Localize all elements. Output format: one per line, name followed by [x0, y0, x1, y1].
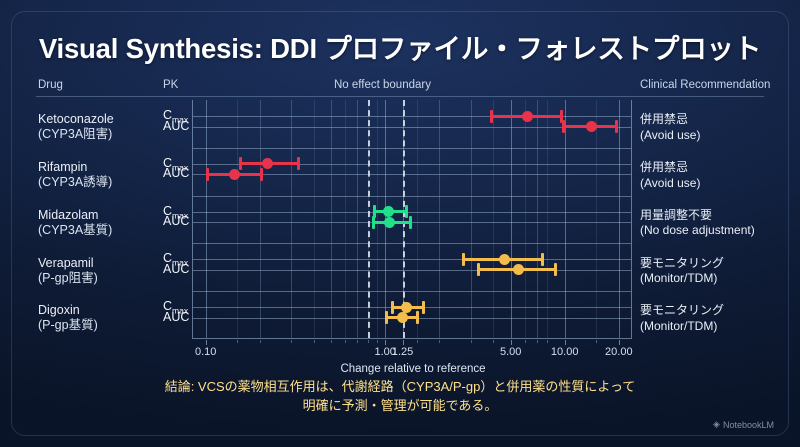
- drug-pathway: (P-gp基質): [38, 318, 98, 333]
- recommendation-en: (Avoid use): [640, 128, 700, 144]
- conclusion-text: 結論: VCSの薬物相互作用は、代謝経路（CYP3A/P-gp）と併用薬の性質に…: [0, 377, 800, 415]
- grid-line-vertical: [511, 100, 512, 338]
- confidence-interval-cap: [541, 253, 544, 266]
- confidence-interval-cap: [260, 168, 263, 181]
- x-axis-tick: [511, 340, 512, 345]
- x-axis-minor-tick: [439, 340, 440, 343]
- drug-name: Midazolam: [38, 208, 112, 223]
- confidence-interval-cap: [490, 110, 493, 123]
- drug-name: Rifampin: [38, 160, 112, 175]
- x-axis-tick: [565, 340, 566, 345]
- grid-line-vertical: [291, 100, 292, 338]
- confidence-interval-cap: [422, 301, 425, 314]
- grid-line-vertical-minor: [377, 100, 378, 338]
- x-axis-minor-tick: [417, 340, 418, 343]
- point-estimate-marker[interactable]: [397, 312, 408, 323]
- recommendation-en: (Monitor/TDM): [640, 319, 724, 335]
- confidence-interval-cap: [477, 263, 480, 276]
- notebooklm-watermark: ◈ NotebookLM: [713, 419, 774, 430]
- drug-pathway: (CYP3A誘導): [38, 175, 112, 190]
- grid-line-vertical: [439, 100, 440, 338]
- x-axis-minor-tick: [260, 340, 261, 343]
- confidence-interval-cap: [462, 253, 465, 266]
- x-axis-minor-tick: [377, 340, 378, 343]
- x-axis-minor-tick: [537, 340, 538, 343]
- x-axis-minor-tick: [237, 340, 238, 343]
- point-estimate-marker[interactable]: [401, 302, 412, 313]
- pk-label: AUC: [163, 214, 189, 228]
- grid-line-vertical-minor: [596, 100, 597, 338]
- x-axis-tick-label: 10.00: [551, 346, 579, 358]
- x-axis-tick-label: 1.25: [392, 346, 413, 358]
- x-axis-minor-tick: [291, 340, 292, 343]
- grid-line-vertical: [331, 100, 332, 338]
- drug-label: Verapamil(P-gp阻害): [38, 256, 98, 286]
- grid-line-vertical: [206, 100, 207, 338]
- x-axis-minor-tick: [596, 340, 597, 343]
- column-header-drug: Drug: [38, 79, 63, 91]
- conclusion-line-1: 結論: VCSの薬物相互作用は、代謝経路（CYP3A/P-gp）と併用薬の性質に…: [0, 377, 800, 396]
- recommendation-label: 併用禁忌(Avoid use): [640, 112, 700, 143]
- confidence-interval-cap: [206, 168, 209, 181]
- x-axis-minor-tick: [357, 340, 358, 343]
- x-axis-tick-label: 5.00: [500, 346, 521, 358]
- grid-line-vertical: [471, 100, 472, 338]
- pk-label: AUC: [163, 166, 189, 180]
- grid-line-group-separator: [193, 243, 631, 244]
- x-axis-minor-tick: [314, 340, 315, 343]
- x-axis-minor-tick: [547, 340, 548, 343]
- recommendation-ja: 併用禁忌: [640, 160, 700, 176]
- confidence-interval-cap: [615, 120, 618, 133]
- x-axis-tick: [403, 340, 404, 345]
- grid-line-horizontal: [193, 270, 631, 271]
- no-effect-boundary-label: No effect boundary: [334, 79, 431, 91]
- point-estimate-marker[interactable]: [513, 264, 524, 275]
- forest-plot: 0.101.001.255.0010.0020.00Change relativ…: [192, 100, 632, 339]
- grid-line-vertical: [260, 100, 261, 338]
- confidence-interval-cap: [239, 157, 242, 170]
- pk-label: AUC: [163, 119, 189, 133]
- x-axis-minor-tick: [471, 340, 472, 343]
- x-axis-minor-tick: [525, 340, 526, 343]
- grid-line-vertical-minor: [547, 100, 548, 338]
- drug-name: Digoxin: [38, 303, 98, 318]
- header-divider: [36, 96, 764, 97]
- grid-line-vertical-minor: [525, 100, 526, 338]
- x-axis-minor-tick: [345, 340, 346, 343]
- x-axis-tick-label: 20.00: [605, 346, 633, 358]
- no-effect-boundary-line: [368, 100, 370, 338]
- confidence-interval-cap: [372, 216, 375, 229]
- drug-pathway: (CYP3A基質): [38, 223, 112, 238]
- grid-line-vertical-minor: [493, 100, 494, 338]
- confidence-interval-cap: [416, 311, 419, 324]
- confidence-interval-cap: [385, 311, 388, 324]
- grid-line-vertical-minor: [314, 100, 315, 338]
- x-axis-tick: [206, 340, 207, 345]
- drug-pathway: (P-gp阻害): [38, 271, 98, 286]
- notebooklm-icon: ◈: [713, 419, 720, 430]
- confidence-interval-cap: [409, 216, 412, 229]
- grid-line-vertical: [357, 100, 358, 338]
- grid-line-vertical-minor: [345, 100, 346, 338]
- grid-line-group-separator: [193, 148, 631, 149]
- x-axis-minor-tick: [493, 340, 494, 343]
- drug-label: Ketoconazole(CYP3A阻害): [38, 112, 114, 142]
- confidence-interval-cap: [405, 205, 408, 218]
- recommendation-label: 要モニタリング(Monitor/TDM): [640, 256, 724, 287]
- recommendation-ja: 用量調整不要: [640, 208, 755, 224]
- point-estimate-marker[interactable]: [522, 111, 533, 122]
- grid-line-vertical: [619, 100, 620, 338]
- recommendation-en: (No dose adjustment): [640, 223, 755, 239]
- point-estimate-marker[interactable]: [586, 121, 597, 132]
- recommendation-ja: 併用禁忌: [640, 112, 700, 128]
- page-title: Visual Synthesis: DDI プロファイル・フォレストプロット: [0, 26, 800, 66]
- column-header-recommendation: Clinical Recommendation: [640, 79, 770, 91]
- recommendation-en: (Avoid use): [640, 176, 700, 192]
- conclusion-line-2: 明確に予測・管理が可能である。: [0, 396, 800, 415]
- pk-label: AUC: [163, 310, 189, 324]
- recommendation-ja: 要モニタリング: [640, 256, 724, 272]
- grid-line-vertical-minor: [237, 100, 238, 338]
- grid-line-horizontal: [193, 212, 631, 213]
- drug-label: Rifampin(CYP3A誘導): [38, 160, 112, 190]
- recommendation-label: 併用禁忌(Avoid use): [640, 160, 700, 191]
- recommendation-en: (Monitor/TDM): [640, 271, 724, 287]
- x-axis-minor-tick: [368, 340, 369, 343]
- drug-label: Midazolam(CYP3A基質): [38, 208, 112, 238]
- point-estimate-marker[interactable]: [383, 206, 394, 217]
- point-estimate-marker[interactable]: [229, 169, 240, 180]
- drug-name: Ketoconazole: [38, 112, 114, 127]
- x-axis-tick-label: 0.10: [195, 346, 216, 358]
- drug-name: Verapamil: [38, 256, 98, 271]
- grid-line-group-separator: [193, 291, 631, 292]
- point-estimate-marker[interactable]: [262, 158, 273, 169]
- drug-pathway: (CYP3A阻害): [38, 127, 114, 142]
- confidence-interval-cap: [554, 263, 557, 276]
- watermark-label: NotebookLM: [723, 420, 774, 430]
- x-axis-title: Change relative to reference: [193, 363, 633, 375]
- recommendation-label: 用量調整不要(No dose adjustment): [640, 208, 755, 239]
- grid-line-vertical: [565, 100, 566, 338]
- drug-label: Digoxin(P-gp基質): [38, 303, 98, 333]
- point-estimate-marker[interactable]: [384, 217, 395, 228]
- grid-line-horizontal: [193, 116, 631, 117]
- grid-line-group-separator: [193, 196, 631, 197]
- grid-line-vertical: [537, 100, 538, 338]
- recommendation-ja: 要モニタリング: [640, 303, 724, 319]
- x-axis-tick: [385, 340, 386, 345]
- grid-line-vertical-minor: [417, 100, 418, 338]
- x-axis-tick: [619, 340, 620, 345]
- pk-label: AUC: [163, 262, 189, 276]
- x-axis-minor-tick: [331, 340, 332, 343]
- point-estimate-marker[interactable]: [499, 254, 510, 265]
- confidence-interval-cap: [562, 120, 565, 133]
- recommendation-label: 要モニタリング(Monitor/TDM): [640, 303, 724, 334]
- confidence-interval-cap: [391, 301, 394, 314]
- confidence-interval-cap: [297, 157, 300, 170]
- grid-line-horizontal: [193, 259, 631, 260]
- column-header-pk: PK: [163, 79, 178, 91]
